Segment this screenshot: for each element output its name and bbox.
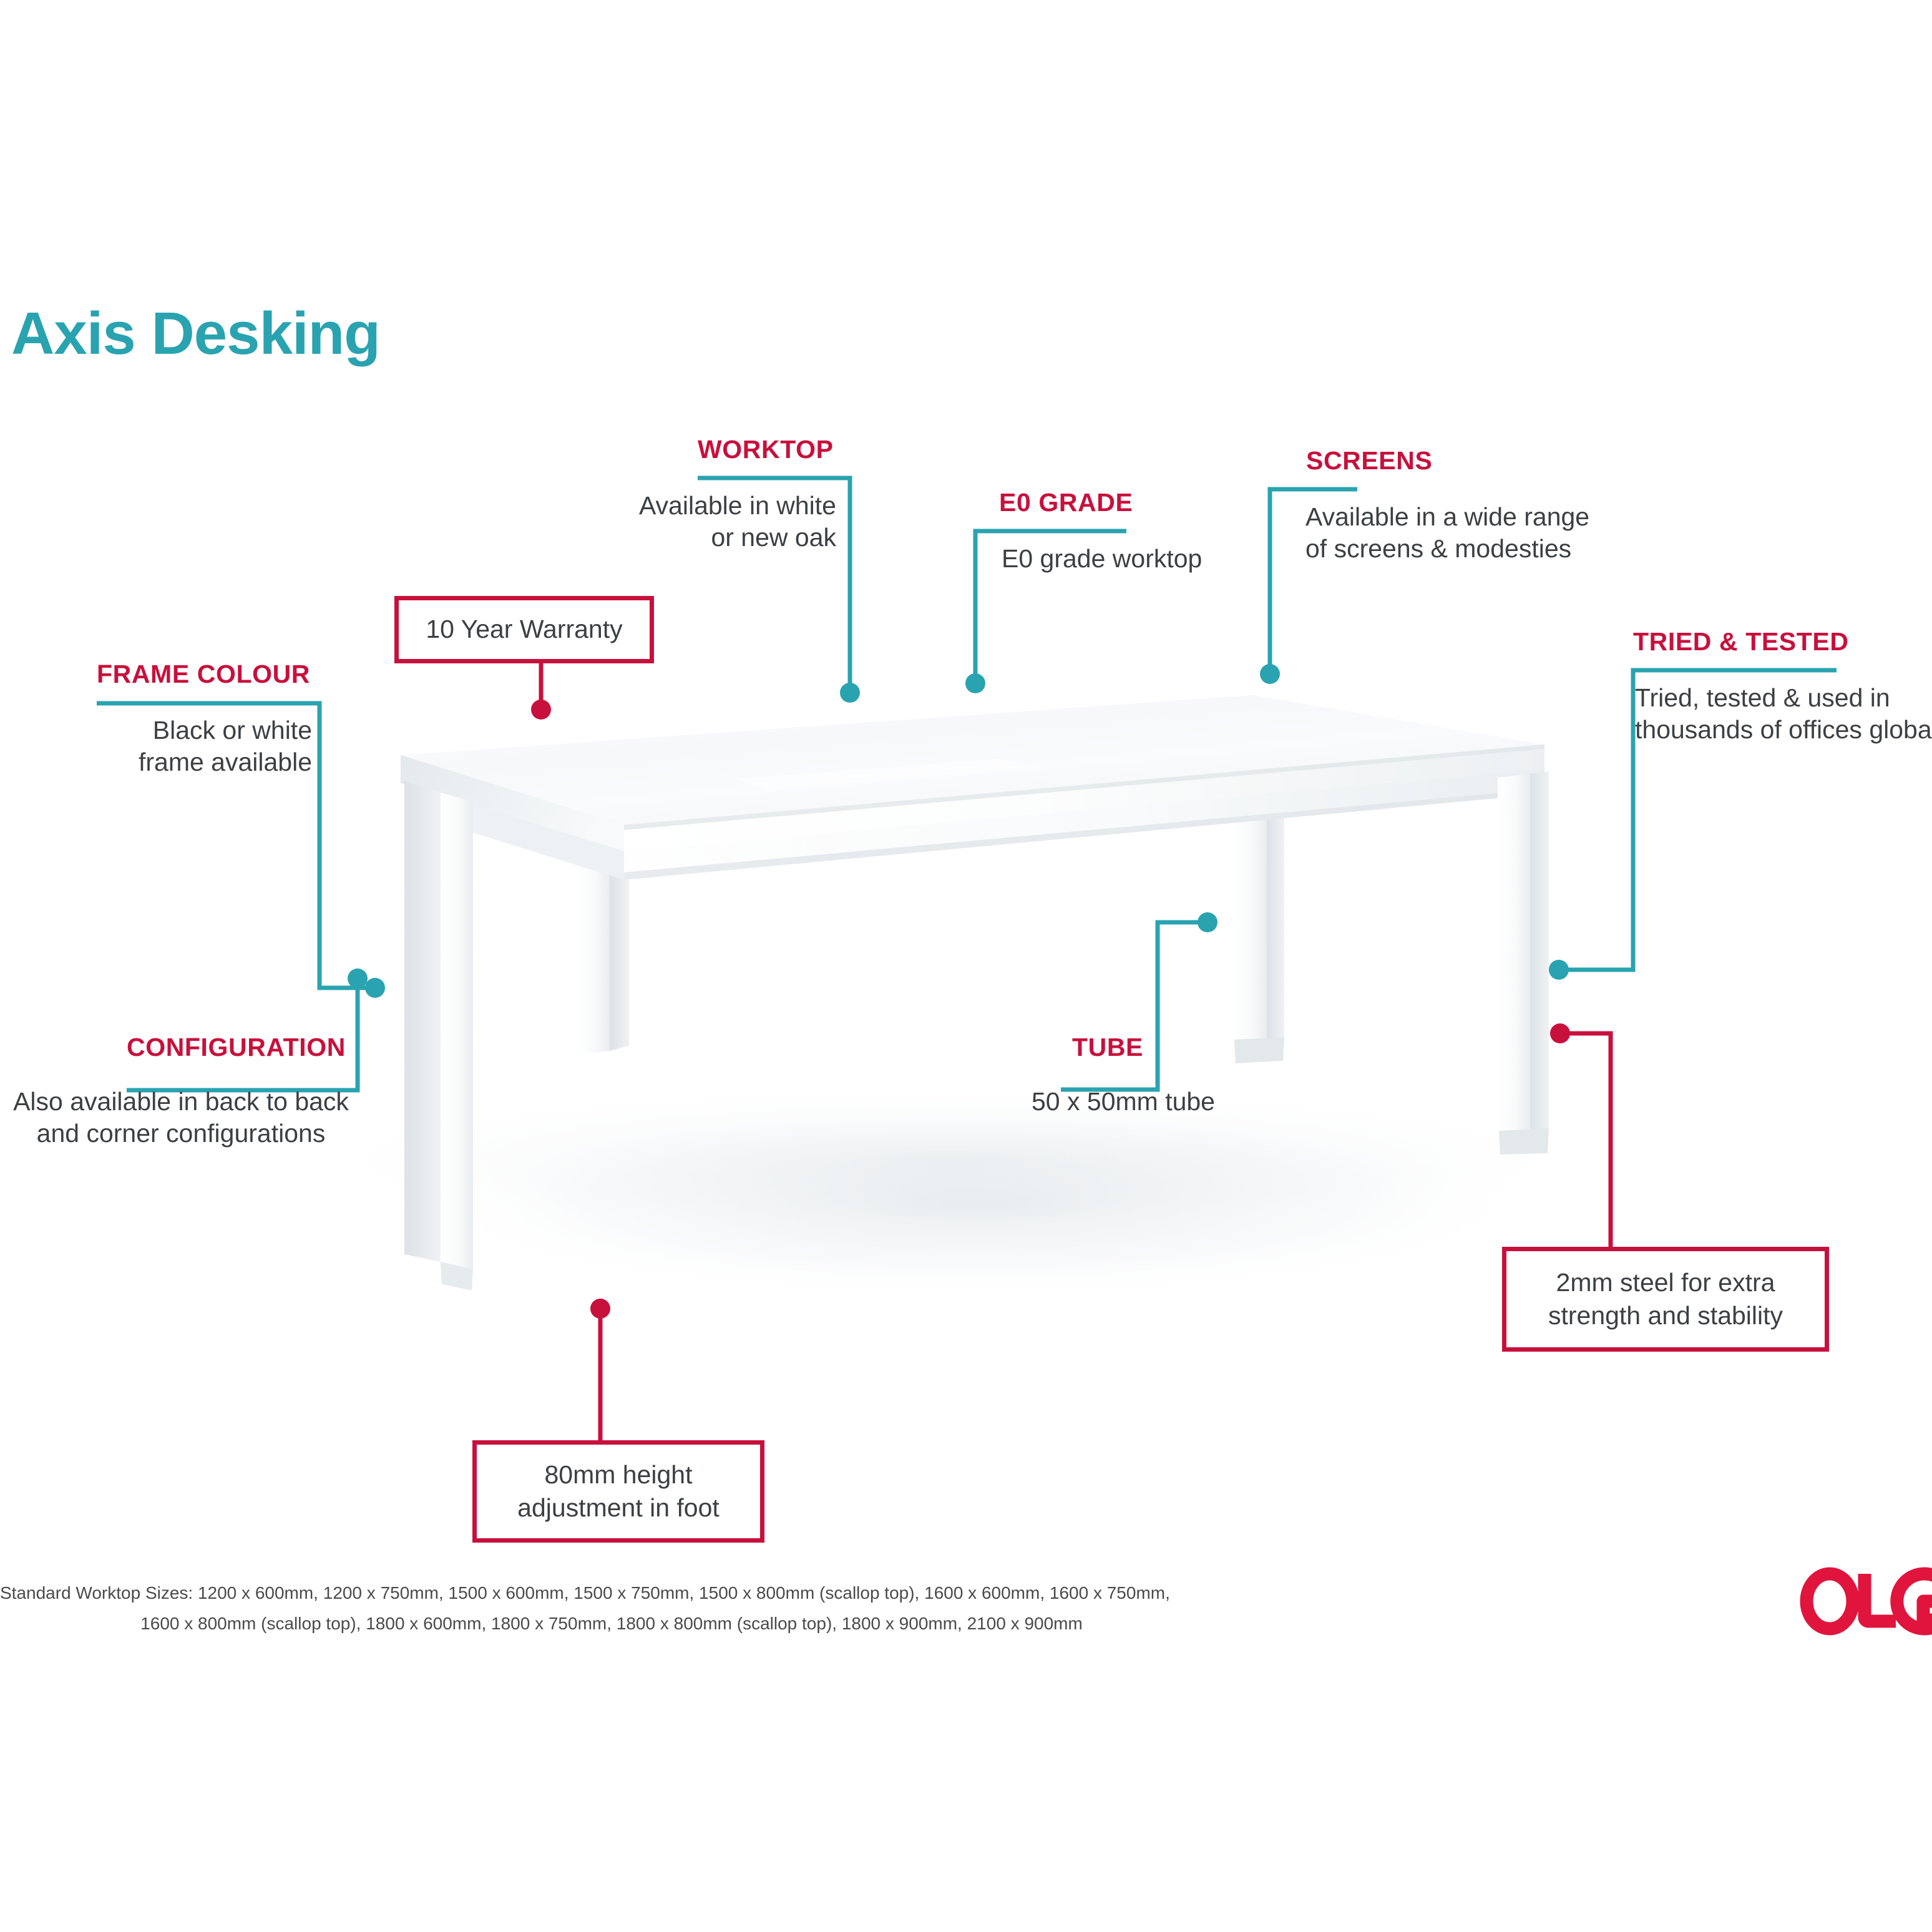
footer-line-1: Standard Worktop Sizes: 1200 x 600mm, 12… [0, 1578, 1223, 1608]
callout-body-tried-tested: Tried, tested & used in thousands of off… [1635, 682, 1932, 746]
desk-leg-front-left [404, 781, 473, 1290]
callout-line: or new oak [549, 522, 836, 554]
boxed-callout-warranty: 10 Year Warranty [394, 596, 654, 663]
callout-line: Tried, tested & used in [1635, 682, 1932, 714]
callout-line: of screens & modesties [1305, 533, 1755, 565]
callout-line: Black or white [0, 715, 312, 746]
boxed-callout-height-adjustment: 80mm height adjustment in foot [472, 1440, 764, 1543]
callout-heading-worktop: WORKTOP [698, 435, 834, 464]
footer-worktop-sizes: Standard Worktop Sizes: 1200 x 600mm, 12… [0, 1578, 1223, 1639]
callout-heading-frame-colour: FRAME COLOUR [97, 660, 310, 689]
callout-line: 50 x 50mm tube [924, 1086, 1323, 1118]
infographic-page: Axis Desking [0, 0, 1932, 1932]
boxed-callout-line: adjustment in foot [517, 1491, 720, 1525]
callout-heading-configuration: CONFIGURATION [127, 1033, 346, 1062]
desk-leg-front-right [1498, 771, 1549, 1154]
product-illustration [0, 0, 1932, 1932]
boxed-callout-text: 10 Year Warranty [426, 613, 622, 646]
callout-body-screens: Available in a wide range of screens & m… [1305, 501, 1755, 565]
callout-body-worktop: Available in white or new oak [549, 490, 836, 554]
boxed-callout-steel-gauge: 2mm steel for extra strength and stabili… [1502, 1247, 1829, 1352]
callout-line: frame available [0, 746, 312, 778]
callout-line: thousands of offices globally [1635, 714, 1932, 746]
callout-line: Available in white [549, 490, 836, 522]
callout-line: Available in a wide range [1305, 501, 1755, 533]
callout-heading-e0-grade: E0 GRADE [999, 488, 1133, 517]
callout-heading-screens: SCREENS [1306, 446, 1432, 476]
footer-line-2: 1600 x 800mm (scallop top), 1800 x 600mm… [0, 1608, 1223, 1639]
boxed-callout-line: 2mm steel for extra [1556, 1266, 1775, 1299]
callout-heading-tried-tested: TRIED & TESTED [1633, 627, 1849, 656]
callout-body-tube: 50 x 50mm tube [924, 1086, 1323, 1118]
olg-logo [1797, 1564, 1932, 1639]
callout-heading-tube: TUBE [1072, 1033, 1143, 1062]
boxed-callout-line: strength and stability [1548, 1299, 1783, 1332]
callout-line: and corner configurations [6, 1118, 356, 1149]
callout-line: Also available in back to back [6, 1086, 356, 1118]
callout-body-configuration: Also available in back to back and corne… [6, 1086, 356, 1150]
boxed-callout-line: 80mm height [544, 1458, 692, 1491]
callout-body-frame-colour: Black or white frame available [0, 715, 312, 779]
